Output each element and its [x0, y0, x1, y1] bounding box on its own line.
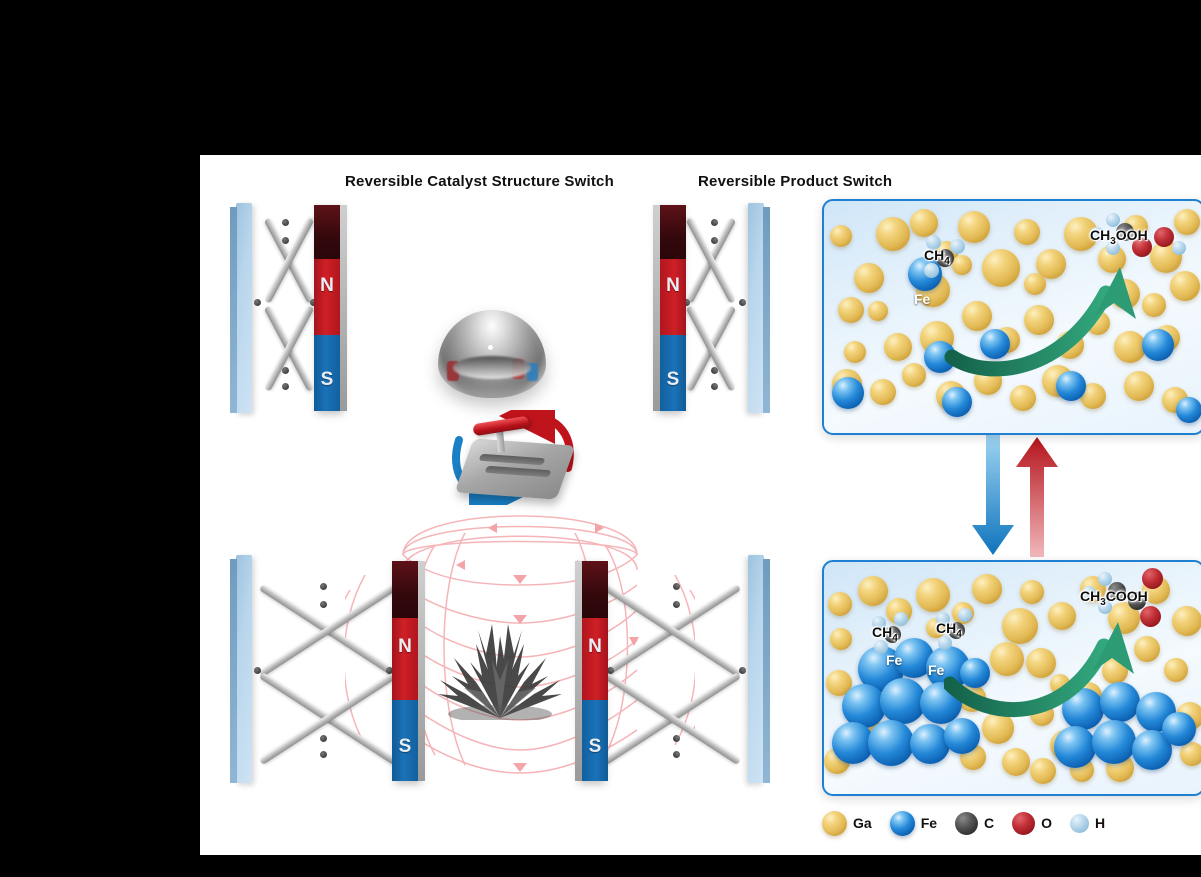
mount-plate: [748, 555, 764, 783]
droplet-body: [438, 310, 546, 398]
magnet-north-pole: N: [392, 618, 418, 699]
droplet-mirror-band: [453, 356, 531, 379]
magnet-south-pole: S: [392, 700, 418, 781]
magnet-assembly-bottom-right: N S: [570, 555, 770, 785]
element-legend: Ga Fe C O H: [822, 803, 1201, 843]
reaction-arrow-top: [944, 241, 1164, 381]
mount-plate-edge: [230, 559, 237, 783]
fe-site-label-top: Fe: [914, 291, 930, 307]
legend-item-h: H: [1070, 814, 1105, 833]
magnet-top-face: [582, 561, 608, 618]
mount-plate-edge: [230, 207, 237, 413]
fe-sphere-icon: [890, 811, 915, 836]
mount-plate: [236, 203, 252, 413]
magnet-side-face: [418, 561, 425, 781]
north-label: N: [582, 636, 608, 658]
magnet-south-pole: S: [582, 700, 608, 781]
figure-canvas: Reversible Catalyst Structure Switch Rev…: [200, 155, 1201, 855]
legend-item-c: C: [955, 812, 994, 835]
legend-label-h: H: [1095, 815, 1105, 831]
magnet-assembly-top-right: N S: [620, 203, 770, 418]
legend-item-fe: Fe: [890, 811, 937, 836]
mount-plate: [236, 555, 252, 783]
panel-dispersed-state: CH4 Fe CH3OOH: [822, 199, 1201, 435]
scissor-linkage-extended: [252, 575, 394, 769]
scissor-linkage-extended: [606, 575, 748, 769]
c-sphere-icon: [955, 812, 978, 835]
ga-sphere-icon: [822, 811, 847, 836]
reaction-arrow-bottom: [944, 602, 1164, 742]
magnet-top-face: [660, 205, 686, 259]
h-sphere-icon: [1070, 814, 1089, 833]
magnet-top-face: [314, 205, 340, 259]
legend-label-ga: Ga: [853, 815, 872, 831]
fe-cluster-atom: [868, 720, 914, 766]
magnet-south-pole: S: [660, 335, 686, 411]
magnet-side-face: [575, 561, 582, 781]
legend-item-ga: Ga: [822, 811, 872, 836]
magnet-north-pole: N: [660, 259, 686, 335]
legend-label-fe: Fe: [921, 815, 937, 831]
north-label: N: [314, 275, 340, 297]
magnet-assembly-bottom-left: N S: [230, 555, 430, 785]
mount-plate: [748, 203, 764, 413]
bar-magnet: N S: [660, 205, 686, 411]
ch3ooh-label: CH3OOH: [1090, 227, 1148, 247]
bar-magnet: N S: [392, 561, 418, 781]
legend-item-o: O: [1012, 812, 1052, 835]
liquid-metal-droplet: [438, 310, 546, 398]
panel-aggregated-state: CH4 CH4 Fe Fe CH3COOH: [822, 560, 1201, 796]
magnet-side-face: [340, 205, 347, 411]
north-label: N: [392, 636, 418, 658]
magnet-top-face: [392, 561, 418, 618]
ch3cooh-label: CH3COOH: [1080, 588, 1148, 608]
scissor-linkage: [252, 215, 316, 405]
mount-plate-edge: [763, 207, 770, 413]
south-label: S: [660, 369, 686, 391]
bar-magnet: N S: [314, 205, 340, 411]
fe-single-atom: [832, 377, 864, 409]
mount-plate-edge: [763, 559, 770, 783]
iron-filings-spikes: [430, 610, 570, 720]
arrow-down-blue: [972, 435, 1014, 555]
fe-cluster-atom: [1162, 712, 1196, 746]
fe-site-label-bottom-1: Fe: [886, 652, 902, 668]
fe-site-label-bottom-2: Fe: [928, 662, 944, 678]
ch4-label-bottom-1: CH4: [872, 624, 898, 644]
south-label: S: [314, 369, 340, 391]
bar-magnet: N S: [582, 561, 608, 781]
arrow-up-red: [1016, 437, 1058, 557]
left-panel-title: Reversible Catalyst Structure Switch: [345, 173, 614, 190]
right-panel-title: Reversible Product Switch: [698, 173, 892, 190]
scissor-linkage: [684, 215, 748, 405]
legend-label-o: O: [1041, 815, 1052, 831]
panel-transition-arrows: [960, 433, 1070, 559]
fe-single-atom: [942, 387, 972, 417]
magnet-north-pole: N: [582, 618, 608, 699]
south-label: S: [392, 736, 418, 758]
magnet-south-pole: S: [314, 335, 340, 411]
south-label: S: [582, 736, 608, 758]
magnet-side-face: [653, 205, 660, 411]
droplet-highlight: [488, 345, 493, 350]
magnet-assembly-top-left: N S: [230, 203, 380, 418]
magnet-north-pole: N: [314, 259, 340, 335]
figure-root: Reversible Catalyst Structure Switch Rev…: [0, 0, 1201, 877]
toggle-switch-graphic[interactable]: [445, 410, 580, 505]
o-sphere-icon: [1012, 812, 1035, 835]
north-label: N: [660, 275, 686, 297]
legend-label-c: C: [984, 815, 994, 831]
fe-single-atom: [1176, 397, 1201, 423]
